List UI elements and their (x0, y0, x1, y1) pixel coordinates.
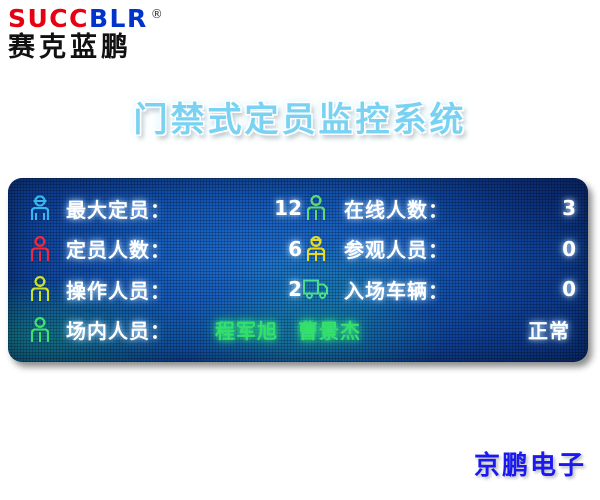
led-label-visitor-count: 参观人员： (344, 234, 522, 263)
led-label-operator-count: 操作人员： (66, 275, 244, 304)
list-item: 曹景杰 (298, 315, 361, 344)
person-icon (26, 274, 54, 304)
led-label-max-capacity: 最大定员： (66, 194, 244, 223)
led-label-online-count: 在线人数： (344, 194, 522, 223)
led-value-online-count: 3 (522, 196, 576, 220)
led-row-onsite-personnel: 场内人员： 程军旭 曹景杰 正常 (26, 310, 576, 351)
person-visitor-icon (302, 234, 330, 264)
led-value-operator-count: 2 (244, 277, 302, 301)
onsite-personnel-list: 程军旭 曹景杰 (215, 315, 528, 344)
led-value-visitor-count: 0 (522, 237, 576, 261)
brand-chinese-name: 赛克蓝鹏 (8, 34, 208, 62)
footer-company-mark: 京鹏电子 (474, 445, 586, 482)
person-icon (26, 234, 54, 264)
brand-latin-blue: BLR (89, 4, 148, 33)
led-row: 最大定员： 12 在线人数： 3 (26, 188, 576, 229)
led-value-max-capacity: 12 (244, 196, 302, 220)
led-label-vehicles-entered: 入场车辆： (344, 275, 522, 304)
led-value-vehicles-entered: 0 (522, 277, 576, 301)
led-readout-grid: 最大定员： 12 在线人数： 3 (26, 188, 576, 350)
led-label-onsite-personnel: 场内人员： (66, 315, 171, 344)
person-icon (302, 193, 330, 223)
status-badge: 正常 (528, 315, 576, 344)
brand-latin-red: SUCC (8, 4, 89, 33)
page-title: 门禁式定员监控系统 (0, 92, 600, 141)
led-value-assigned-count: 6 (244, 237, 302, 261)
registered-trademark-icon: ® (151, 7, 165, 21)
led-display-panel: 最大定员： 12 在线人数： 3 (8, 178, 588, 362)
truck-icon (302, 274, 330, 304)
list-item: 程军旭 (215, 315, 278, 344)
led-label-assigned-count: 定员人数： (66, 234, 244, 263)
brand-logo: SUCCBLR® 赛克蓝鹏 (8, 6, 208, 62)
onsite-personnel-row: 场内人员： 程军旭 曹景杰 正常 (66, 315, 576, 344)
led-row: 操作人员： 2 入场车辆： 0 (26, 269, 576, 310)
led-row: 定员人数： 6 参观人员： 0 (26, 229, 576, 270)
person-icon (26, 315, 54, 345)
person-cap-icon (26, 193, 54, 223)
brand-latin-wordmark: SUCCBLR® (8, 6, 208, 31)
